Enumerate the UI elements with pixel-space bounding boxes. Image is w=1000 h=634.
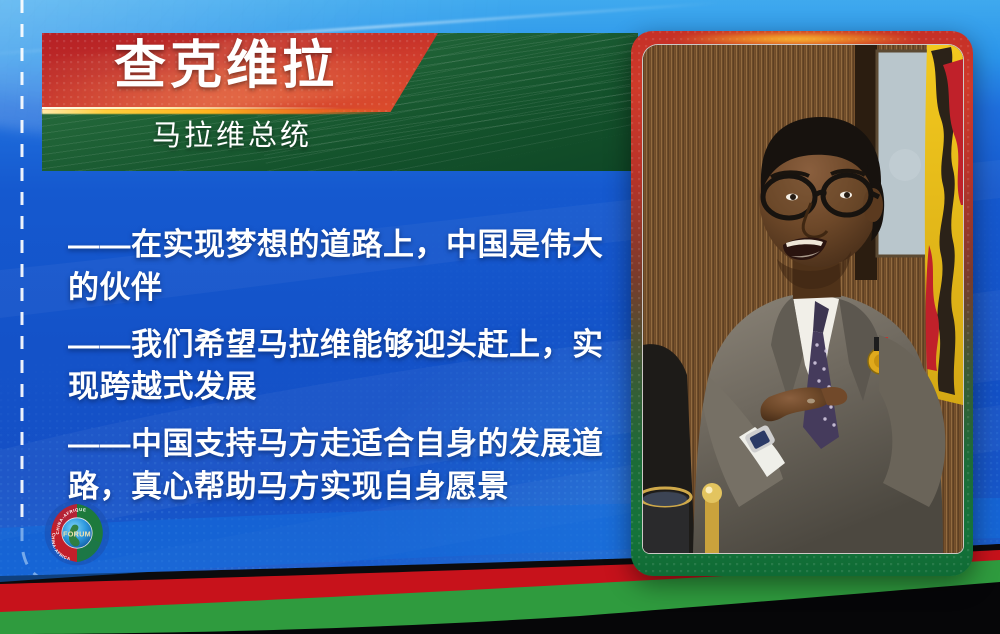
- guest-photo-frame: [631, 31, 973, 576]
- quote-item: ——中国支持马方走适合自身的发展道路，真心帮助马方实现自身愿景: [68, 423, 620, 509]
- broadcast-lower-third-graphic: 查克维拉 马拉维总统 ——在实现梦想的道路上，中国是伟大的伙伴 ——我们希望马拉…: [0, 0, 1000, 634]
- quote-list: ——在实现梦想的道路上，中国是伟大的伙伴 ——我们希望马拉维能够迎头赶上，实现跨…: [68, 224, 620, 523]
- guest-portrait-image: [643, 45, 963, 553]
- gold-divider-rule: [42, 109, 390, 114]
- gold-divider-rule-highlight: [42, 107, 342, 109]
- guest-title: 马拉维总统: [152, 122, 312, 151]
- focac-forum-logo: FORUM CHINA-AFRIQUE CHINA-AFRICA: [44, 500, 110, 566]
- guest-name: 查克维拉: [114, 40, 338, 92]
- guest-photo: [642, 44, 964, 554]
- quote-item: ——在实现梦想的道路上，中国是伟大的伙伴: [68, 224, 620, 310]
- quote-item: ——我们希望马拉维能够迎头赶上，实现跨越式发展: [68, 324, 620, 410]
- svg-text:FORUM: FORUM: [63, 529, 91, 538]
